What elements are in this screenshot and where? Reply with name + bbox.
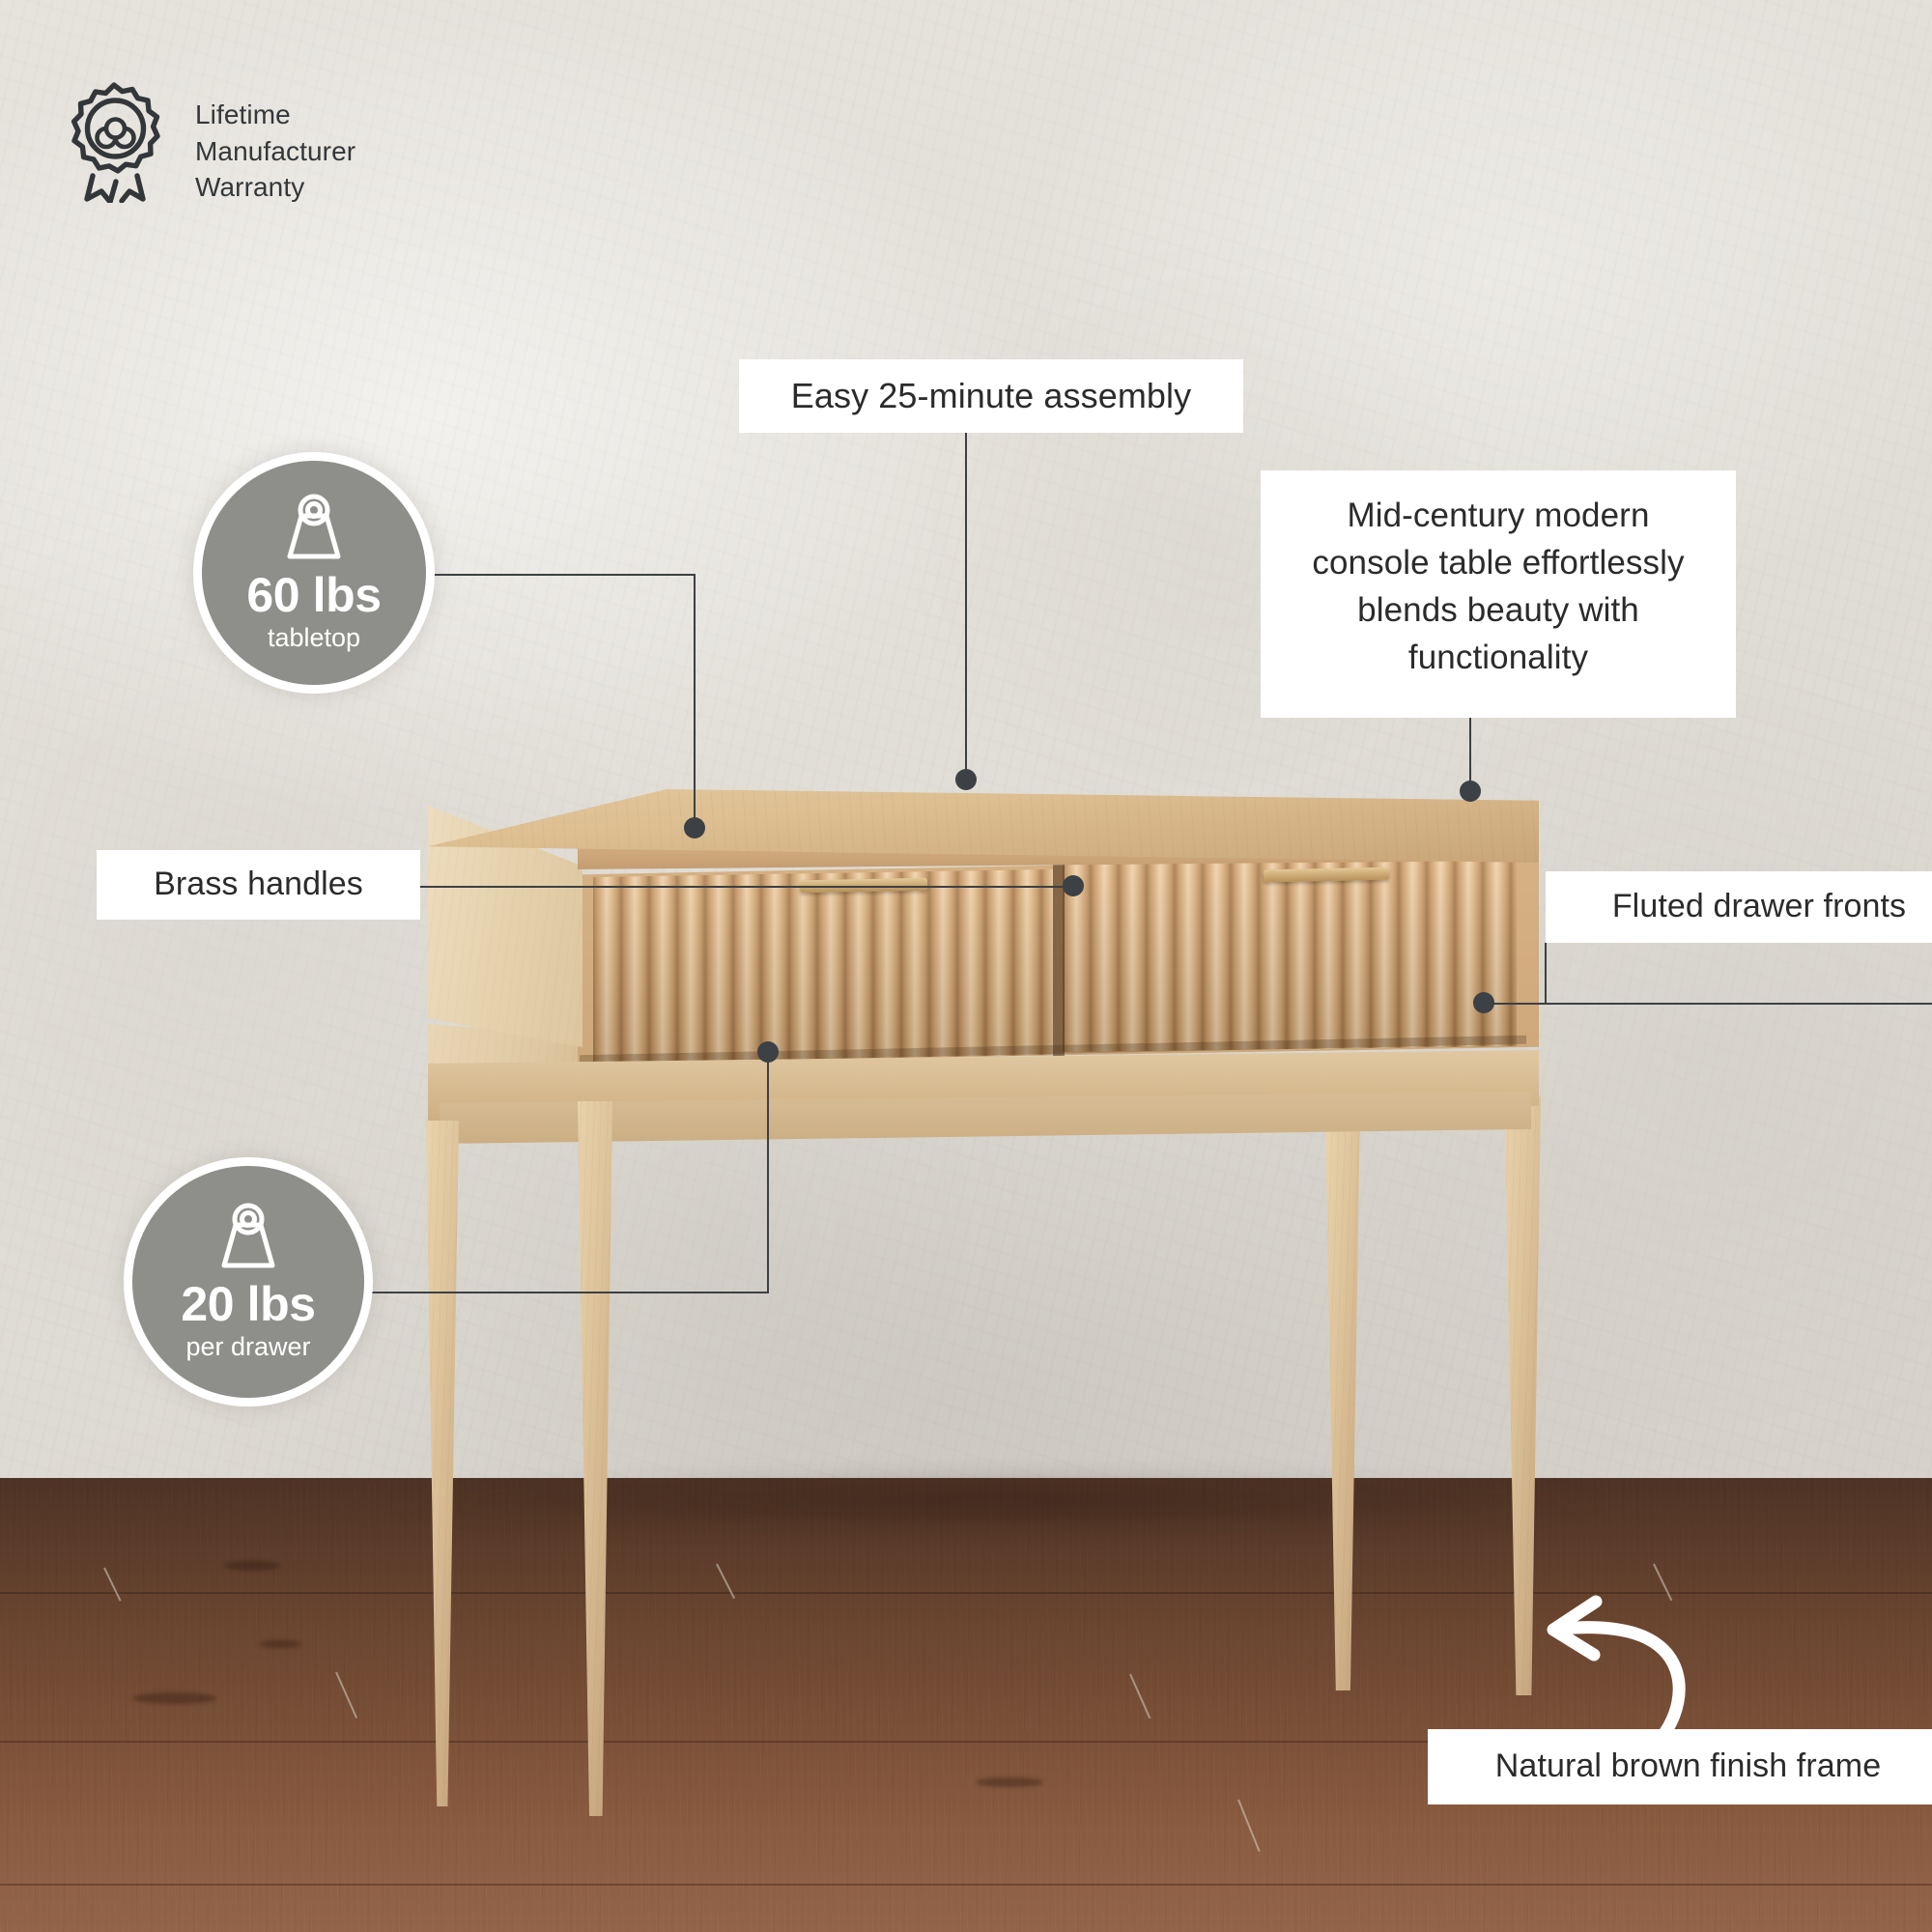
brass-handle-right[interactable]: [1264, 867, 1389, 882]
callout-dot-fluted: [1473, 992, 1494, 1013]
warranty-line-1: Lifetime: [195, 97, 355, 133]
badge-value-drawer: 20 lbs: [181, 1279, 315, 1329]
table-leg-back-left: [1325, 1111, 1360, 1690]
warranty-line-3: Warranty: [195, 169, 355, 206]
badge-drawer-weight: 20 lbs per drawer: [124, 1157, 373, 1406]
leader-line-fluted: [1545, 943, 1547, 1004]
callout-dot-tabletop: [684, 817, 705, 838]
badge-sub-drawer: per drawer: [185, 1331, 310, 1362]
weight-icon: [276, 493, 352, 566]
callout-dot-assembly: [955, 769, 977, 790]
badge-tabletop-weight: 60 lbs tabletop: [193, 452, 435, 694]
weight-icon: [211, 1202, 286, 1275]
table-leg-front-right: [574, 1101, 612, 1816]
callout-dot-description: [1460, 781, 1481, 802]
leader-line-fluted: [1483, 1003, 1932, 1005]
table-floor-shadow: [367, 1468, 1623, 1536]
leader-line-tabletop-weight: [694, 574, 696, 825]
table-leg-front-left: [426, 1121, 459, 1806]
badge-value-tabletop: 60 lbs: [246, 570, 381, 620]
callout-label-description: Mid-century modern console table effortl…: [1261, 470, 1736, 718]
warranty-line-2: Manufacturer: [195, 133, 355, 170]
badge-sub-tabletop: tabletop: [268, 622, 360, 653]
callout-label-assembly: Easy 25-minute assembly: [739, 359, 1243, 433]
callout-label-finish-frame: Natural brown finish frame: [1428, 1729, 1932, 1804]
leader-line-brass-handles: [370, 886, 1072, 888]
leader-line-assembly: [965, 433, 967, 776]
drawer-left: [593, 869, 1053, 1063]
warranty-block: Lifetime Manufacturer Warranty: [56, 75, 355, 206]
infographic-canvas: Lifetime Manufacturer Warranty 60 lbs ta…: [0, 0, 1932, 1932]
leader-line-drawer-weight: [359, 1292, 769, 1293]
callout-dot-brass-handles: [1063, 875, 1084, 896]
callout-label-fluted-fronts: Fluted drawer fronts: [1546, 871, 1932, 943]
warranty-seal-infinity-icon: [56, 75, 172, 203]
callout-dot-drawer-weight: [757, 1041, 779, 1063]
leader-line-drawer-weight: [767, 1051, 769, 1293]
warranty-text: Lifetime Manufacturer Warranty: [195, 75, 355, 206]
drawer-right: [1063, 859, 1517, 1052]
callout-label-brass-handles: Brass handles: [97, 850, 420, 920]
